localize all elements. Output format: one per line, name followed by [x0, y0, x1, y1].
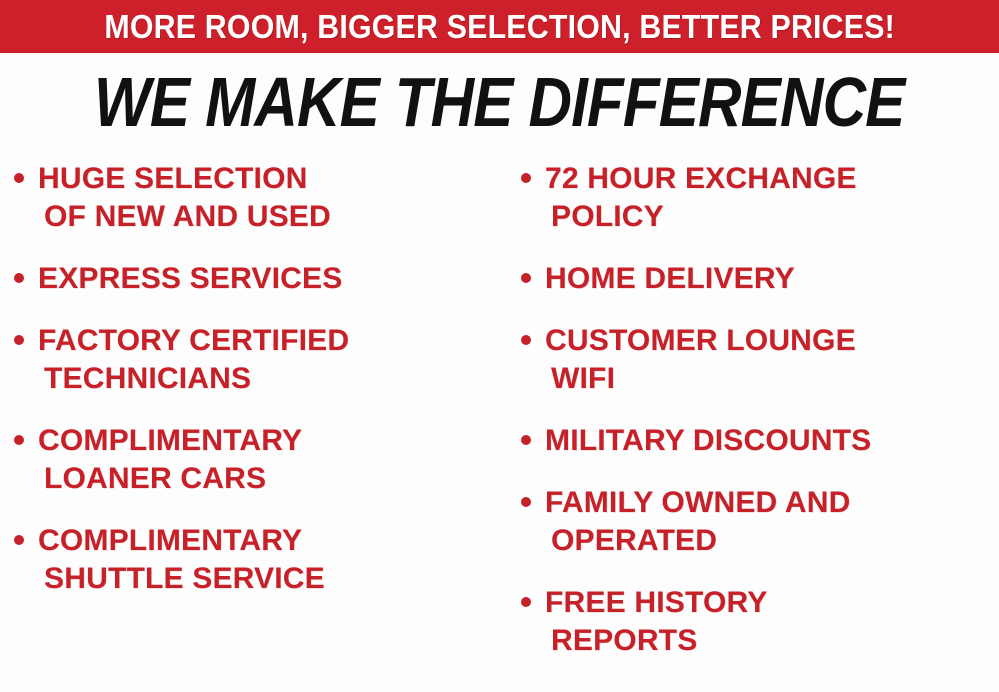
- feature-label: FAMILY OWNED AND OPERATED: [545, 484, 850, 560]
- feature-label: FREE HISTORY REPORTS: [545, 584, 767, 660]
- feature-line-2: SHUTTLE SERVICE: [38, 560, 325, 598]
- list-item: FREE HISTORY REPORTS: [521, 584, 999, 660]
- bullet-icon: [14, 535, 24, 545]
- feature-line-1: FAMILY OWNED AND: [545, 484, 850, 522]
- promo-banner-text: MORE ROOM, BIGGER SELECTION, BETTER PRIC…: [104, 10, 895, 43]
- feature-label: CUSTOMER LOUNGE WIFI: [545, 322, 856, 398]
- list-item: FAMILY OWNED AND OPERATED: [521, 484, 999, 560]
- feature-line-1: MILITARY DISCOUNTS: [545, 422, 871, 460]
- feature-line-2: OPERATED: [545, 522, 850, 560]
- feature-line-2: TECHNICIANS: [38, 360, 349, 398]
- feature-label: MILITARY DISCOUNTS: [545, 422, 871, 460]
- feature-line-2: LOANER CARS: [38, 460, 302, 498]
- feature-line-2: WIFI: [545, 360, 856, 398]
- feature-label: HUGE SELECTION OF NEW AND USED: [38, 160, 331, 236]
- headline-container: WE MAKE THE DIFFERENCE: [0, 60, 999, 144]
- feature-line-2: OF NEW AND USED: [38, 198, 331, 236]
- features-left-column: HUGE SELECTION OF NEW AND USED EXPRESS S…: [0, 160, 505, 622]
- bullet-icon: [14, 173, 24, 183]
- list-item: MILITARY DISCOUNTS: [521, 422, 999, 460]
- feature-label: HOME DELIVERY: [545, 260, 795, 298]
- bullet-icon: [14, 335, 24, 345]
- bullet-icon: [521, 597, 531, 607]
- feature-line-1: HOME DELIVERY: [545, 260, 795, 298]
- feature-line-1: COMPLIMENTARY: [38, 522, 325, 560]
- bullet-icon: [521, 435, 531, 445]
- feature-line-2: POLICY: [545, 198, 857, 236]
- promo-banner: MORE ROOM, BIGGER SELECTION, BETTER PRIC…: [0, 0, 999, 53]
- feature-line-1: FACTORY CERTIFIED: [38, 322, 349, 360]
- feature-line-1: COMPLIMENTARY: [38, 422, 302, 460]
- list-item: HOME DELIVERY: [521, 260, 999, 298]
- feature-line-1: EXPRESS SERVICES: [38, 260, 342, 298]
- page-title: WE MAKE THE DIFFERENCE: [94, 67, 905, 137]
- bullet-icon: [14, 273, 24, 283]
- feature-label: 72 HOUR EXCHANGE POLICY: [545, 160, 857, 236]
- feature-line-1: FREE HISTORY: [545, 584, 767, 622]
- feature-label: EXPRESS SERVICES: [38, 260, 342, 298]
- feature-line-1: CUSTOMER LOUNGE: [545, 322, 856, 360]
- features-right-column: 72 HOUR EXCHANGE POLICY HOME DELIVERY CU…: [505, 160, 999, 684]
- bullet-icon: [521, 173, 531, 183]
- bullet-icon: [14, 435, 24, 445]
- list-item: EXPRESS SERVICES: [14, 260, 505, 298]
- feature-line-2: REPORTS: [545, 622, 767, 660]
- feature-line-1: 72 HOUR EXCHANGE: [545, 160, 857, 198]
- features-section: HUGE SELECTION OF NEW AND USED EXPRESS S…: [0, 160, 999, 692]
- list-item: 72 HOUR EXCHANGE POLICY: [521, 160, 999, 236]
- bullet-icon: [521, 497, 531, 507]
- list-item: HUGE SELECTION OF NEW AND USED: [14, 160, 505, 236]
- list-item: COMPLIMENTARY LOANER CARS: [14, 422, 505, 498]
- list-item: COMPLIMENTARY SHUTTLE SERVICE: [14, 522, 505, 598]
- feature-label: FACTORY CERTIFIED TECHNICIANS: [38, 322, 349, 398]
- list-item: FACTORY CERTIFIED TECHNICIANS: [14, 322, 505, 398]
- feature-line-1: HUGE SELECTION: [38, 160, 331, 198]
- feature-label: COMPLIMENTARY LOANER CARS: [38, 422, 302, 498]
- feature-label: COMPLIMENTARY SHUTTLE SERVICE: [38, 522, 325, 598]
- list-item: CUSTOMER LOUNGE WIFI: [521, 322, 999, 398]
- bullet-icon: [521, 335, 531, 345]
- bullet-icon: [521, 273, 531, 283]
